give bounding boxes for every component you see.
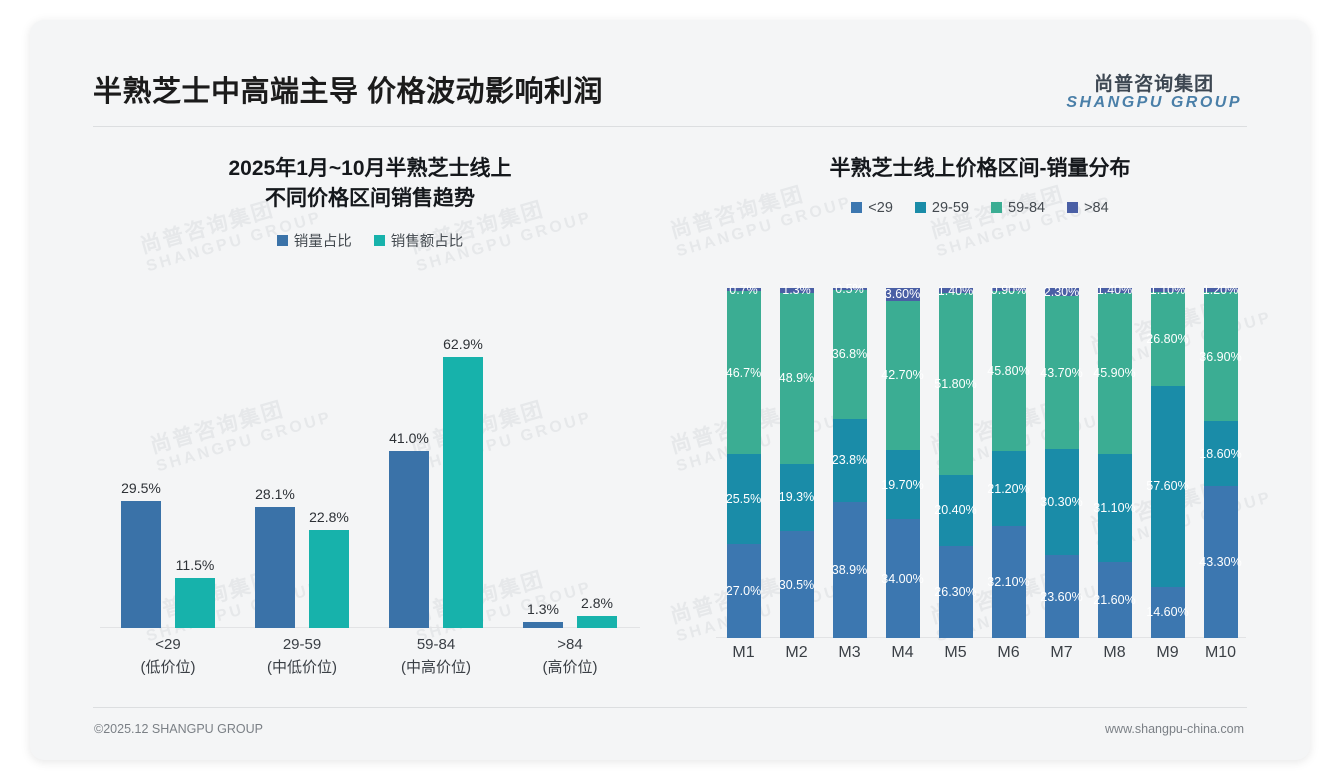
segment-value-label: 25.5% bbox=[726, 492, 761, 506]
bar-column[interactable]: 1.3% bbox=[523, 298, 563, 628]
slide-header: 半熟芝士中高端主导 价格波动影响利润 尚普咨询集团 SHANGPU GROUP bbox=[30, 20, 1310, 112]
stacked-bar-segment[interactable]: 46.7% bbox=[727, 291, 761, 454]
segment-value-label: 43.70% bbox=[1040, 366, 1082, 380]
stacked-bar-segment[interactable]: 45.80% bbox=[992, 291, 1026, 451]
legend-item-29-59[interactable]: 29-59 bbox=[915, 200, 969, 216]
bar-rect[interactable] bbox=[443, 357, 483, 628]
bar-rect[interactable] bbox=[255, 507, 295, 628]
bar-group: 28.1%22.8% bbox=[236, 298, 368, 628]
stacked-bar-segment[interactable]: 2.30% bbox=[1045, 288, 1079, 296]
segment-value-label: 30.30% bbox=[1040, 495, 1082, 509]
segment-value-label: 36.8% bbox=[832, 347, 867, 361]
segment-value-label: 19.3% bbox=[779, 490, 814, 504]
segment-value-label: 23.8% bbox=[832, 453, 867, 467]
stacked-bar-segment[interactable]: 1.3% bbox=[780, 288, 814, 293]
segment-value-label: 23.60% bbox=[1040, 590, 1082, 604]
bar-value-label: 28.1% bbox=[255, 486, 295, 502]
footer-copyright: ©2025.12 SHANGPU GROUP bbox=[94, 722, 263, 736]
tick-range: 29-59 bbox=[236, 634, 368, 657]
x-axis-tick-label: M1 bbox=[717, 644, 770, 662]
stacked-bar-segment[interactable]: 1.10% bbox=[1151, 288, 1185, 292]
bar-column[interactable]: 11.5% bbox=[175, 298, 215, 628]
slide-canvas: 半熟芝士中高端主导 价格波动影响利润 尚普咨询集团 SHANGPU GROUP … bbox=[30, 20, 1310, 760]
chart-legend-right: <2929-5959-84>84 bbox=[680, 200, 1280, 216]
x-axis-tick-label: M9 bbox=[1141, 644, 1194, 662]
legend-label: 销售额占比 bbox=[391, 230, 464, 251]
tick-range: >84 bbox=[504, 634, 636, 657]
stacked-bar-segment[interactable]: 31.10% bbox=[1098, 454, 1132, 563]
segment-value-label: 0.90% bbox=[991, 283, 1026, 297]
stacked-bar-segment[interactable]: 18.60% bbox=[1204, 421, 1238, 486]
stacked-bar-segment[interactable]: 1.40% bbox=[1098, 288, 1132, 293]
x-axis-tick-label: M5 bbox=[929, 644, 982, 662]
bar-rect[interactable] bbox=[175, 578, 215, 628]
stacked-bar-segment[interactable]: 30.5% bbox=[780, 531, 814, 638]
segment-value-label: 1.40% bbox=[938, 284, 973, 298]
tick-sublabel: (中高价位) bbox=[370, 657, 502, 680]
company-logo: 尚普咨询集团 SHANGPU GROUP bbox=[1066, 75, 1242, 112]
bar-value-label: 11.5% bbox=[176, 557, 215, 573]
segment-value-label: 14.60% bbox=[1146, 605, 1188, 619]
bar-value-label: 22.8% bbox=[309, 509, 349, 525]
segment-value-label: 43.30% bbox=[1199, 555, 1241, 569]
stacked-bar-group: 30.5%19.3%48.9%1.3% bbox=[770, 288, 823, 638]
legend-item-59-84[interactable]: 59-84 bbox=[991, 200, 1045, 216]
bar-column[interactable]: 29.5% bbox=[121, 298, 161, 628]
x-axis-tick-label: 59-84(中高价位) bbox=[370, 634, 502, 679]
chart-title-right: 半熟芝士线上价格区间-销量分布 bbox=[680, 154, 1280, 184]
segment-value-label: 45.80% bbox=[987, 364, 1029, 378]
stacked-bar-segment[interactable]: 38.9% bbox=[833, 502, 867, 638]
segment-value-label: 19.70% bbox=[881, 478, 923, 492]
stacked-bar-segment[interactable]: 1.20% bbox=[1204, 288, 1238, 292]
legend-item-销售额占比[interactable]: 销售额占比 bbox=[374, 230, 464, 251]
segment-value-label: 21.20% bbox=[987, 482, 1029, 496]
chart-legend-left: 销量占比销售额占比 bbox=[70, 230, 670, 251]
bar-value-label: 62.9% bbox=[443, 336, 483, 352]
legend-swatch-icon bbox=[915, 202, 926, 213]
segment-value-label: 1.3% bbox=[782, 283, 811, 297]
bar-value-label: 29.5% bbox=[121, 480, 161, 496]
logo-english-text: SHANGPU GROUP bbox=[1066, 95, 1242, 112]
stacked-bar-segment[interactable]: 21.60% bbox=[1098, 562, 1132, 638]
bar-group: 1.3%2.8% bbox=[504, 298, 636, 628]
segment-value-label: 0.7% bbox=[729, 283, 758, 297]
chart-plot-right: 27.0%25.5%46.7%0.7%M130.5%19.3%48.9%1.3%… bbox=[716, 288, 1246, 638]
bar-value-label: 1.3% bbox=[527, 601, 559, 617]
stacked-bar-segment[interactable]: 26.80% bbox=[1151, 292, 1185, 386]
x-axis-tick-label: M6 bbox=[982, 644, 1035, 662]
segment-value-label: 30.5% bbox=[779, 578, 814, 592]
stacked-bar-segment[interactable]: 57.60% bbox=[1151, 386, 1185, 587]
stacked-bar-group: 32.10%21.20%45.80%0.90% bbox=[982, 288, 1035, 638]
stacked-bar-segment[interactable]: 3.60% bbox=[886, 288, 920, 301]
x-axis-tick-label: M2 bbox=[770, 644, 823, 662]
stacked-bar-group: 26.30%20.40%51.80%1.40% bbox=[929, 288, 982, 638]
tick-range: 59-84 bbox=[370, 634, 502, 657]
chart-panel-left: 2025年1月~10月半熟芝士线上 不同价格区间销售趋势 销量占比销售额占比 2… bbox=[70, 138, 670, 698]
segment-value-label: 48.9% bbox=[779, 371, 814, 385]
bar-column[interactable]: 28.1% bbox=[255, 298, 295, 628]
x-axis-tick-label: 29-59(中低价位) bbox=[236, 634, 368, 679]
logo-chinese-text: 尚普咨询集团 bbox=[1066, 75, 1242, 95]
footer-divider bbox=[93, 707, 1247, 708]
segment-value-label: 21.60% bbox=[1093, 593, 1135, 607]
stacked-bar-segment[interactable]: 27.0% bbox=[727, 544, 761, 639]
stacked-bar-segment[interactable]: 21.20% bbox=[992, 451, 1026, 525]
segment-value-label: 46.7% bbox=[726, 366, 761, 380]
stacked-bar-group: 21.60%31.10%45.90%1.40% bbox=[1088, 288, 1141, 638]
legend-swatch-icon bbox=[374, 235, 385, 246]
bar-column[interactable]: 22.8% bbox=[309, 298, 349, 628]
stacked-bar-segment[interactable]: 19.3% bbox=[780, 464, 814, 532]
stacked-bar-segment[interactable]: 0.90% bbox=[992, 288, 1026, 291]
bar-group: 29.5%11.5% bbox=[102, 298, 234, 628]
segment-value-label: 31.10% bbox=[1093, 501, 1135, 515]
stacked-bar-segment[interactable]: 48.9% bbox=[780, 293, 814, 464]
stacked-bar-group: 43.30%18.60%36.90%1.20% bbox=[1194, 288, 1247, 638]
bar-rect[interactable] bbox=[309, 530, 349, 628]
stacked-bar-segment[interactable]: 14.60% bbox=[1151, 587, 1185, 638]
legend-label: <29 bbox=[868, 200, 893, 216]
chart-panel-right: 半熟芝士线上价格区间-销量分布 <2929-5959-84>84 27.0%25… bbox=[680, 138, 1280, 698]
x-axis-tick-label: M8 bbox=[1088, 644, 1141, 662]
stacked-bar-segment[interactable]: 19.70% bbox=[886, 450, 920, 519]
bar-rect[interactable] bbox=[389, 451, 429, 628]
legend-label: 销量占比 bbox=[294, 230, 352, 251]
x-axis-tick-label: <29(低价位) bbox=[102, 634, 234, 679]
page-title: 半熟芝士中高端主导 价格波动影响利润 bbox=[93, 68, 603, 110]
stacked-bar-segment[interactable]: 25.5% bbox=[727, 454, 761, 543]
stacked-bar-segment[interactable]: 34.00% bbox=[886, 519, 920, 638]
segment-value-label: 0.5% bbox=[835, 282, 864, 296]
segment-value-label: 3.60% bbox=[885, 287, 920, 301]
legend-item-销量占比[interactable]: 销量占比 bbox=[277, 230, 352, 251]
bar-rect[interactable] bbox=[577, 616, 617, 628]
stacked-bar-group: 27.0%25.5%46.7%0.7% bbox=[717, 288, 770, 638]
tick-sublabel: (中低价位) bbox=[236, 657, 368, 680]
stacked-bar-segment[interactable]: 43.70% bbox=[1045, 296, 1079, 449]
segment-value-label: 32.10% bbox=[987, 575, 1029, 589]
x-axis-tick-label: M3 bbox=[823, 644, 876, 662]
segment-value-label: 57.60% bbox=[1146, 479, 1188, 493]
chart-title-left: 2025年1月~10月半熟芝士线上 不同价格区间销售趋势 bbox=[70, 154, 670, 214]
stacked-bar-group: 23.60%30.30%43.70%2.30% bbox=[1035, 288, 1088, 638]
chart-title-left-line1: 2025年1月~10月半熟芝士线上 bbox=[70, 154, 670, 184]
stacked-bar-segment[interactable]: 36.8% bbox=[833, 290, 867, 419]
bar-value-label: 41.0% bbox=[389, 430, 429, 446]
bar-column[interactable]: 2.8% bbox=[577, 298, 617, 628]
bar-rect[interactable] bbox=[121, 501, 161, 628]
stacked-bar-segment[interactable]: 1.40% bbox=[939, 288, 973, 293]
stacked-bar-segment[interactable]: 51.80% bbox=[939, 293, 973, 474]
segment-value-label: 1.20% bbox=[1203, 283, 1238, 297]
segment-value-label: 42.70% bbox=[881, 368, 923, 382]
x-axis-tick-label: M4 bbox=[876, 644, 929, 662]
segment-value-label: 1.40% bbox=[1097, 283, 1132, 297]
stacked-bar-segment[interactable]: 0.5% bbox=[833, 288, 867, 290]
stacked-bar-segment[interactable]: 30.30% bbox=[1045, 449, 1079, 555]
stacked-bar-segment[interactable]: 23.8% bbox=[833, 419, 867, 502]
tick-range: <29 bbox=[102, 634, 234, 657]
segment-value-label: 51.80% bbox=[934, 377, 976, 391]
tick-sublabel: (低价位) bbox=[102, 657, 234, 680]
segment-value-label: 20.40% bbox=[934, 503, 976, 517]
stacked-bar-group: 34.00%19.70%42.70%3.60% bbox=[876, 288, 929, 638]
segment-value-label: 27.0% bbox=[726, 584, 761, 598]
stacked-bar-segment[interactable]: 26.30% bbox=[939, 546, 973, 638]
chart-title-left-line2: 不同价格区间销售趋势 bbox=[70, 184, 670, 214]
footer-website: www.shangpu-china.com bbox=[1105, 722, 1244, 736]
legend-label: >84 bbox=[1084, 200, 1109, 216]
stacked-bar-segment[interactable]: 36.90% bbox=[1204, 292, 1238, 421]
segment-value-label: 18.60% bbox=[1199, 447, 1241, 461]
chart-plot-left: 29.5%11.5%<29(低价位)28.1%22.8%29-59(中低价位)4… bbox=[100, 298, 640, 628]
segment-value-label: 45.90% bbox=[1093, 366, 1135, 380]
legend-swatch-icon bbox=[1067, 202, 1078, 213]
stacked-bar-segment[interactable]: 45.90% bbox=[1098, 293, 1132, 454]
stacked-bar-group: 38.9%23.8%36.8%0.5% bbox=[823, 288, 876, 638]
bar-column[interactable]: 62.9% bbox=[443, 298, 483, 628]
segment-value-label: 26.80% bbox=[1146, 332, 1188, 346]
bar-column[interactable]: 41.0% bbox=[389, 298, 429, 628]
legend-swatch-icon bbox=[991, 202, 1002, 213]
tick-sublabel: (高价位) bbox=[504, 657, 636, 680]
legend-item->84[interactable]: >84 bbox=[1067, 200, 1109, 216]
bar-value-label: 2.8% bbox=[581, 595, 613, 611]
bar-rect[interactable] bbox=[523, 622, 563, 628]
stacked-bar-segment[interactable]: 0.7% bbox=[727, 288, 761, 290]
legend-label: 59-84 bbox=[1008, 200, 1045, 216]
x-axis-tick-label: >84(高价位) bbox=[504, 634, 636, 679]
segment-value-label: 26.30% bbox=[934, 585, 976, 599]
stacked-bar-segment[interactable]: 32.10% bbox=[992, 526, 1026, 638]
segment-value-label: 36.90% bbox=[1199, 350, 1241, 364]
legend-swatch-icon bbox=[277, 235, 288, 246]
legend-swatch-icon bbox=[851, 202, 862, 213]
stacked-bar-segment[interactable]: 42.70% bbox=[886, 301, 920, 450]
header-divider bbox=[93, 126, 1247, 127]
x-axis-tick-label: M7 bbox=[1035, 644, 1088, 662]
segment-value-label: 1.10% bbox=[1150, 283, 1185, 297]
legend-item-<29[interactable]: <29 bbox=[851, 200, 893, 216]
legend-label: 29-59 bbox=[932, 200, 969, 216]
stacked-bar-segment[interactable]: 20.40% bbox=[939, 475, 973, 546]
bar-group: 41.0%62.9% bbox=[370, 298, 502, 628]
stacked-bar-segment[interactable]: 23.60% bbox=[1045, 555, 1079, 638]
x-axis-tick-label: M10 bbox=[1194, 644, 1247, 662]
stacked-bar-segment[interactable]: 43.30% bbox=[1204, 486, 1238, 638]
segment-value-label: 38.9% bbox=[832, 563, 867, 577]
stacked-bar-group: 14.60%57.60%26.80%1.10% bbox=[1141, 288, 1194, 638]
segment-value-label: 34.00% bbox=[881, 572, 923, 586]
segment-value-label: 2.30% bbox=[1044, 285, 1079, 299]
